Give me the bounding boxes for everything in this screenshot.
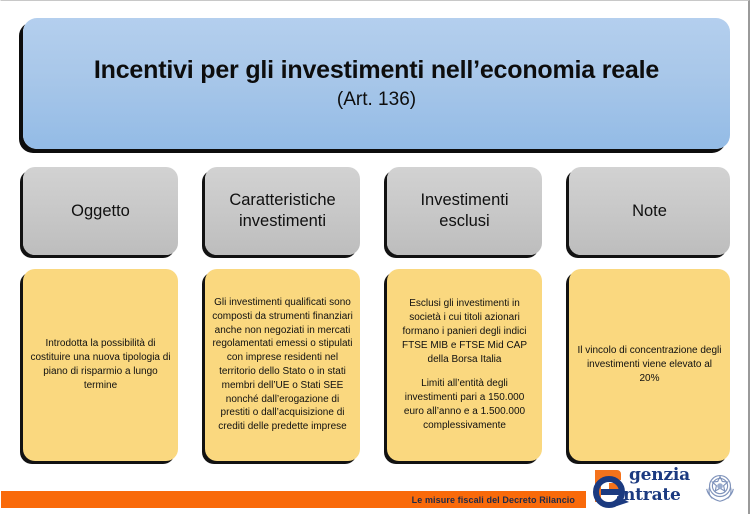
page-subtitle: (Art. 136) bbox=[337, 89, 416, 111]
column-body-paragraph: Il vincolo di concentrazione degli inves… bbox=[576, 344, 723, 385]
logo-line-ntrate: ntrate bbox=[623, 487, 681, 504]
column-body-paragraph: Introdotta la possibilità di costituire … bbox=[30, 337, 171, 392]
column-body-note: Il vincolo di concentrazione degli inves… bbox=[569, 269, 730, 461]
column-body-paragraph: Esclusi gli investimenti in società i cu… bbox=[394, 297, 535, 366]
column-body-investimenti-esclusi: Esclusi gli investimenti in società i cu… bbox=[387, 269, 542, 461]
column-header-label: Note bbox=[632, 201, 667, 222]
footer-label: Le misure fiscali del Decreto Rilancio bbox=[412, 495, 586, 505]
column-header-label: Oggetto bbox=[71, 201, 130, 222]
column-body-paragraph: Limiti all’entità degli investimenti par… bbox=[394, 377, 535, 432]
column-body-caratteristiche-investimenti: Gli investimenti qualificati sono compos… bbox=[205, 269, 360, 461]
column-header-investimenti-esclusi: Investimenti esclusi bbox=[387, 167, 542, 255]
column-header-label: Caratteristiche investimenti bbox=[211, 190, 354, 231]
footer-bar: Le misure fiscali del Decreto Rilancio bbox=[1, 491, 586, 508]
page-title: Incentivi per gli investimenti nell’econ… bbox=[94, 56, 659, 85]
column-body-oggetto: Introdotta la possibilità di costituire … bbox=[23, 269, 178, 461]
column-body-paragraph: Gli investimenti qualificati sono compos… bbox=[212, 296, 353, 434]
slide-canvas: Incentivi per gli investimenti nell’econ… bbox=[0, 0, 750, 514]
column-header-caratteristiche-investimenti: Caratteristiche investimenti bbox=[205, 167, 360, 255]
repubblica-italiana-emblem-icon bbox=[701, 468, 739, 506]
column-header-label: Investimenti esclusi bbox=[393, 190, 536, 231]
column-header-oggetto: Oggetto bbox=[23, 167, 178, 255]
agenzia-logo-wordmark: genzia ntrate bbox=[617, 463, 713, 509]
column-header-note: Note bbox=[569, 167, 730, 255]
title-banner: Incentivi per gli investimenti nell’econ… bbox=[23, 18, 730, 149]
agenzia-entrate-logo: genzia ntrate bbox=[589, 462, 739, 512]
logo-line-genzia: genzia bbox=[629, 467, 690, 484]
